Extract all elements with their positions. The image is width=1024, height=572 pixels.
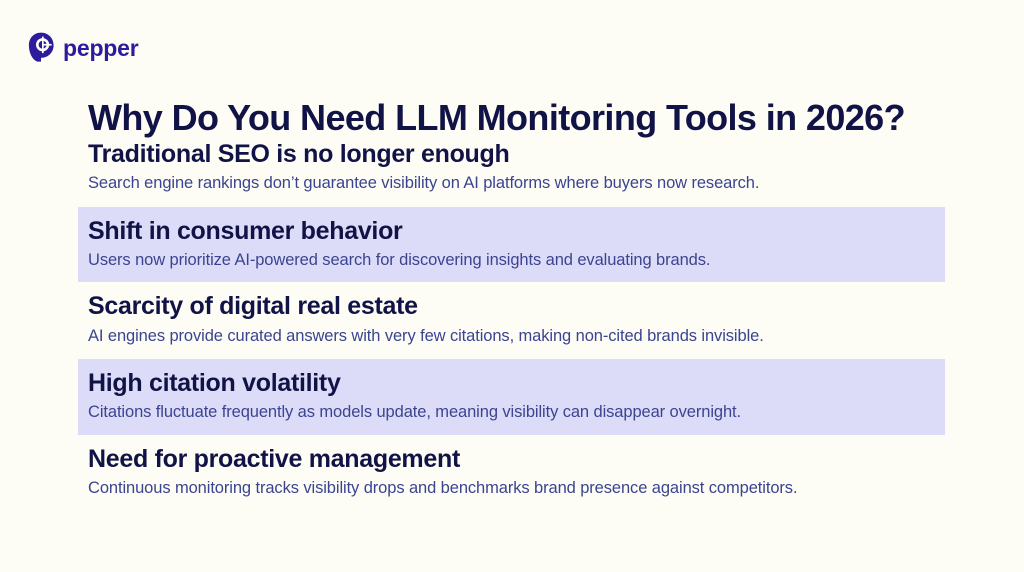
reason-list: Traditional SEO is no longer enough Sear… bbox=[0, 133, 1024, 511]
slide-canvas: pepper Why Do You Need LLM Monitoring To… bbox=[0, 0, 1024, 572]
list-item-description: Citations fluctuate frequently as models… bbox=[88, 402, 931, 423]
list-item: Traditional SEO is no longer enough Sear… bbox=[0, 133, 1024, 203]
list-item-title: Scarcity of digital real estate bbox=[88, 291, 954, 322]
list-item: Scarcity of digital real estate AI engin… bbox=[0, 285, 1024, 355]
list-item: Need for proactive management Continuous… bbox=[0, 438, 1024, 508]
list-item: High citation volatility Citations fluct… bbox=[78, 359, 945, 435]
list-item-title: High citation volatility bbox=[88, 368, 931, 399]
list-item-title: Shift in consumer behavior bbox=[88, 216, 931, 247]
brand-wordmark: pepper bbox=[63, 37, 138, 60]
list-item-description: Users now prioritize AI-powered search f… bbox=[88, 250, 931, 271]
list-item-description: AI engines provide curated answers with … bbox=[88, 326, 954, 347]
list-item-description: Continuous monitoring tracks visibility … bbox=[88, 478, 954, 499]
pepper-logo-icon bbox=[28, 32, 54, 62]
list-item-description: Search engine rankings don’t guarantee v… bbox=[88, 173, 954, 194]
brand-logo[interactable]: pepper bbox=[28, 30, 138, 64]
list-item: Shift in consumer behavior Users now pri… bbox=[78, 207, 945, 283]
list-item-title: Traditional SEO is no longer enough bbox=[88, 139, 954, 170]
list-item-title: Need for proactive management bbox=[88, 444, 954, 475]
